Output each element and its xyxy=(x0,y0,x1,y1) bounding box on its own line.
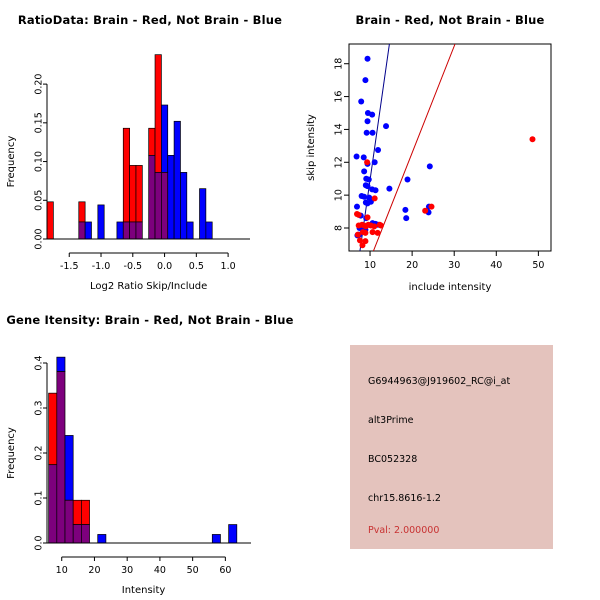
locus-label: chr15.8616-1.2 xyxy=(368,493,441,504)
scatter-point xyxy=(365,214,371,220)
histogram-bar xyxy=(47,202,53,239)
y-axis-label: 0.10 xyxy=(34,151,45,172)
scatter-point xyxy=(529,136,535,142)
y-axis-title: Frequency xyxy=(6,136,17,188)
histogram-bar-overlap xyxy=(161,172,167,239)
y-axis-label: 14 xyxy=(334,123,345,135)
scatter-point xyxy=(364,159,370,165)
x-axis-label: 0.5 xyxy=(189,261,204,272)
histogram-bar xyxy=(200,189,206,239)
x-axis-label: 0.0 xyxy=(157,261,172,272)
x-axis-label: -1.0 xyxy=(92,261,111,272)
intensity-scatter-panel: Brain - Red, Not Brain - Blue 8101214161… xyxy=(300,0,600,300)
histogram-bar xyxy=(81,500,89,524)
y-axis-title: skip intensity xyxy=(306,114,317,181)
histogram-bar-overlap xyxy=(65,500,73,543)
scatter-point xyxy=(366,177,372,183)
histogram-bar-overlap xyxy=(130,222,136,239)
scatter-point xyxy=(372,195,378,201)
x-axis-label: 1.0 xyxy=(221,261,236,272)
ratio-histogram-panel: RatioData: Brain - Red, Not Brain - Blue… xyxy=(0,0,300,300)
gene-intensity-histogram-panel: Gene Itensity: Brain - Red, Not Brain - … xyxy=(0,300,300,600)
histogram-bar xyxy=(65,435,73,500)
scatter-point xyxy=(403,215,409,221)
histogram-bar xyxy=(206,222,212,239)
y-axis-label: 12 xyxy=(334,156,345,168)
scatter-point xyxy=(373,187,379,193)
scatter-point xyxy=(404,177,410,183)
histogram-bar xyxy=(180,172,186,239)
histogram-bar xyxy=(174,121,180,239)
x-axis-label: 20 xyxy=(88,565,100,576)
scatter-point xyxy=(354,154,360,160)
y-axis-label: 0.20 xyxy=(34,74,45,95)
scatter-point xyxy=(402,207,408,213)
histogram-bar-overlap xyxy=(57,372,65,543)
histogram-bar xyxy=(168,155,174,239)
x-axis-title: Log2 Ratio Skip/Include xyxy=(90,281,207,292)
x-axis-label: 10 xyxy=(364,260,376,271)
intensity-scatter-title: Brain - Red, Not Brain - Blue xyxy=(300,13,600,27)
scatter-point xyxy=(362,77,368,83)
scatter-point xyxy=(361,154,367,160)
gene-info-panel: G6944963@J919602_RC@i_at alt3Prime BC052… xyxy=(300,300,600,600)
x-axis-label: 50 xyxy=(532,260,544,271)
gene-intensity-histogram-plot: 0.00.10.20.30.4102030405060IntensityFreq… xyxy=(0,300,300,600)
scatter-point xyxy=(361,168,367,174)
histogram-bar xyxy=(187,222,193,239)
histogram-bar xyxy=(117,222,123,239)
y-axis-label: 18 xyxy=(334,58,345,70)
event-type-label: alt3Prime xyxy=(368,415,413,426)
histogram-bar xyxy=(123,128,129,222)
histogram-bar xyxy=(212,534,220,543)
y-axis-label: 0.3 xyxy=(34,400,45,415)
scatter-point xyxy=(362,230,368,236)
x-axis-title: Intensity xyxy=(122,585,166,596)
scatter-point xyxy=(371,223,377,229)
scatter-point xyxy=(365,118,371,124)
x-axis-label: -0.5 xyxy=(124,261,143,272)
x-axis-label: 60 xyxy=(219,565,231,576)
x-axis-label: 40 xyxy=(154,565,166,576)
histogram-bar-overlap xyxy=(149,155,155,239)
accession-label: BC052328 xyxy=(368,454,417,465)
y-axis-label: 10 xyxy=(334,189,345,201)
scatter-point xyxy=(354,204,360,210)
histogram-bar-overlap xyxy=(155,172,161,239)
y-axis-label: 8 xyxy=(334,225,345,231)
histogram-bar xyxy=(229,525,237,543)
scatter-point xyxy=(365,200,371,206)
y-axis-label: 0.00 xyxy=(34,228,45,249)
scatter-point xyxy=(427,163,433,169)
probe-id-label: G6944963@J919602_RC@i_at xyxy=(368,376,510,387)
gene-info-box: G6944963@J919602_RC@i_at alt3Prime BC052… xyxy=(350,345,553,549)
histogram-bar xyxy=(98,205,104,239)
scatter-point xyxy=(359,242,365,248)
scatter-point xyxy=(370,130,376,136)
intensity-scatter-plot: 810121416181020304050include intensitysk… xyxy=(300,0,600,300)
x-axis-label: 50 xyxy=(187,565,199,576)
histogram-bar xyxy=(136,165,142,222)
scatter-point xyxy=(370,229,376,235)
histogram-bar-overlap xyxy=(123,222,129,239)
histogram-bar xyxy=(57,357,65,371)
y-axis-label: 0.1 xyxy=(34,490,45,505)
histogram-bar xyxy=(130,165,136,222)
scatter-point xyxy=(386,186,392,192)
histogram-bar xyxy=(79,202,85,222)
x-axis-label: 30 xyxy=(448,260,460,271)
scatter-point xyxy=(383,123,389,129)
scatter-point xyxy=(358,99,364,105)
scatter-point xyxy=(375,147,381,153)
scatter-point xyxy=(356,212,362,218)
histogram-bar xyxy=(161,105,167,172)
histogram-bar-overlap xyxy=(49,465,57,543)
y-axis-title: Frequency xyxy=(6,427,17,479)
histogram-bar xyxy=(98,534,106,543)
y-axis-label: 0.2 xyxy=(34,445,45,460)
x-axis-label: 10 xyxy=(56,565,68,576)
histogram-bar-overlap xyxy=(81,525,89,543)
x-axis-title: include intensity xyxy=(409,282,492,293)
pval-label: Pval: 2.000000 xyxy=(368,525,439,536)
scatter-point xyxy=(372,159,378,165)
scatter-point xyxy=(361,194,367,200)
histogram-bar xyxy=(73,500,81,524)
scatter-point xyxy=(428,204,434,210)
y-axis-label: 0.0 xyxy=(34,535,45,550)
ratio-histogram-plot: 0.000.050.100.150.20-1.5-1.0-0.50.00.51.… xyxy=(0,0,300,300)
scatter-point xyxy=(369,112,375,118)
regression-line xyxy=(373,44,455,251)
y-axis-label: 0.15 xyxy=(34,112,45,133)
histogram-bar xyxy=(85,222,91,239)
histogram-bar xyxy=(49,393,57,465)
x-axis-label: 20 xyxy=(406,260,418,271)
histogram-bar-overlap xyxy=(136,222,142,239)
histogram-bar xyxy=(149,128,155,155)
x-axis-label: 40 xyxy=(490,260,502,271)
y-axis-label: 0.05 xyxy=(34,190,45,211)
scatter-point xyxy=(422,208,428,214)
x-axis-label: -1.5 xyxy=(60,261,79,272)
histogram-bar xyxy=(155,55,161,173)
histogram-bar-overlap xyxy=(79,222,85,239)
ratio-histogram-title: RatioData: Brain - Red, Not Brain - Blue xyxy=(0,13,300,27)
scatter-point xyxy=(365,56,371,62)
scatter-point xyxy=(378,223,384,229)
histogram-bar-overlap xyxy=(73,525,81,543)
scatter-point xyxy=(364,130,370,136)
gene-intensity-histogram-title: Gene Itensity: Brain - Red, Not Brain - … xyxy=(0,313,300,327)
y-axis-label: 16 xyxy=(334,91,345,103)
y-axis-label: 0.4 xyxy=(34,355,45,370)
x-axis-label: 30 xyxy=(121,565,133,576)
scatter-point xyxy=(375,230,381,236)
